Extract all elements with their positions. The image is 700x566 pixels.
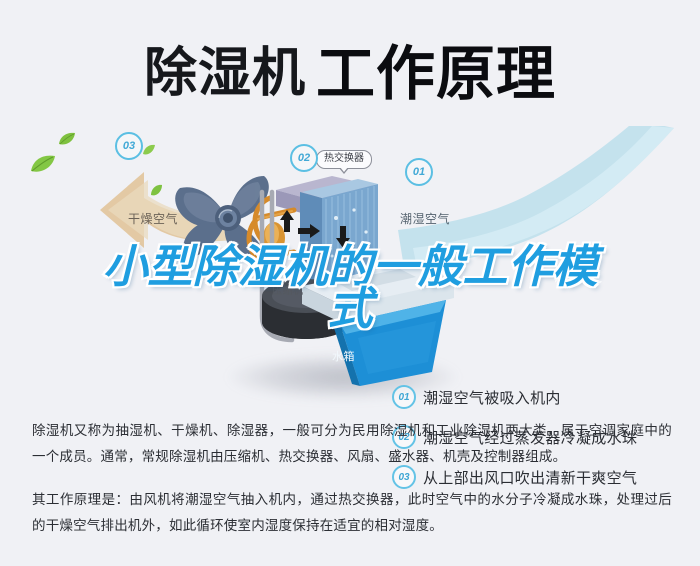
diagram-marker-02: 02 xyxy=(290,144,318,172)
diagram-marker-03: 03 xyxy=(115,132,143,160)
title-segment-primary: 除湿机 xyxy=(144,44,306,103)
paragraph-2: 其工作原理是：由风机将潮湿空气抽入机内，通过热交换器，此时空气中的水分子冷凝成水… xyxy=(32,487,672,540)
page-title: 除湿机工作原理 xyxy=(0,26,700,111)
dehumidifier-diagram: 热交换器 03 02 01 干燥空气 潮湿空气 压缩机 水箱 01 潮湿空气被吸… xyxy=(0,122,700,412)
title-segment-secondary: 工作原理 xyxy=(316,41,556,107)
leaf-icon xyxy=(150,184,163,197)
compressor-label: 压缩机 xyxy=(272,282,304,297)
article-body: 除湿机又称为抽湿机、干燥机、除湿器，一般可分为民用除湿机和工业除湿机两大类，属于… xyxy=(32,418,672,539)
leaf-icon xyxy=(142,144,156,156)
paragraph-1: 除湿机又称为抽湿机、干燥机、除湿器，一般可分为民用除湿机和工业除湿机两大类，属于… xyxy=(32,418,672,471)
water-tank-label: 水箱 xyxy=(332,348,355,364)
legend-text-01: 潮湿空气被吸入机内 xyxy=(423,387,561,408)
dry-air-label: 干燥空气 xyxy=(128,210,178,227)
heat-exchanger-label: 热交换器 xyxy=(324,153,364,164)
dehumidifier-unit-illustration xyxy=(240,146,470,396)
leaf-icon xyxy=(58,132,76,146)
leaf-icon xyxy=(30,154,56,173)
heat-exchanger-callout: 热交换器 xyxy=(316,150,372,169)
diagram-marker-01: 01 xyxy=(405,158,433,186)
infographic-stage: 除湿机工作原理 xyxy=(0,0,700,566)
legend-item-01: 01 潮湿空气被吸入机内 xyxy=(392,386,684,408)
legend-badge-01: 01 xyxy=(392,385,416,409)
moist-air-label: 潮湿空气 xyxy=(400,210,450,227)
